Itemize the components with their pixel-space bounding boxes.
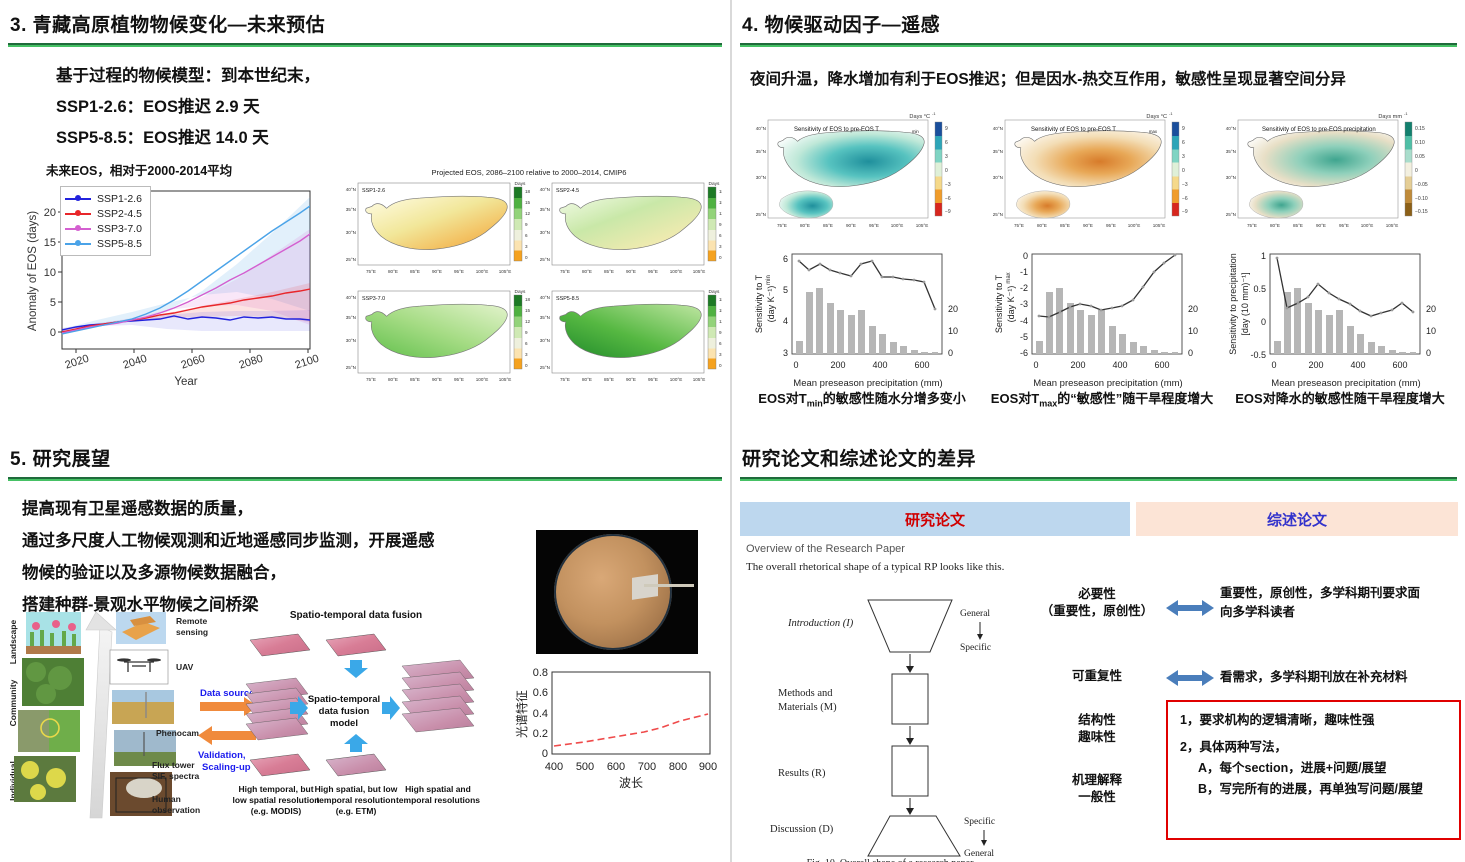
- spectra-ylabel: 光谱特征: [514, 690, 529, 738]
- svg-text:80°E: 80°E: [582, 269, 592, 274]
- svg-text:85°E: 85°E: [604, 377, 614, 382]
- svg-text:-1: -1: [1169, 111, 1173, 116]
- svg-text:Sensitivity to T: Sensitivity to T: [754, 274, 764, 333]
- s3-line-3: SSP5-8.5：EOS推迟 14.0 天: [56, 123, 730, 154]
- method-thumbnails: [110, 612, 176, 816]
- svg-text:0: 0: [1271, 360, 1276, 370]
- svg-text:30°N: 30°N: [1226, 175, 1236, 180]
- svg-text:40°N: 40°N: [540, 295, 550, 300]
- svg-text:6: 6: [719, 233, 722, 238]
- section-3-title: 3. 青藏高原植物物候变化—未来预估: [0, 0, 730, 41]
- svg-text:80°E: 80°E: [800, 223, 810, 228]
- doc-figcap: Fig. 10. Overall shape of a research pap…: [740, 858, 1040, 862]
- svg-text:2080: 2080: [238, 353, 265, 372]
- row2-right-text: 看需求，多学科期刊放在补充材料: [1220, 668, 1465, 687]
- svg-text:90°E: 90°E: [1316, 223, 1326, 228]
- svg-text:12: 12: [719, 319, 722, 324]
- svg-text:35°N: 35°N: [540, 315, 550, 320]
- fusion-captions: High temporal, butlow spatial resolution…: [233, 784, 481, 816]
- label-scaling-up: Scaling-up: [202, 762, 251, 773]
- svg-text:-5: -5: [1020, 332, 1028, 342]
- slide-root: 3. 青藏高原植物物候变化—未来预估 基于过程的物候模型：到本世纪末， SSP1…: [0, 0, 1465, 862]
- eos-x-ticks: 2020 2040 2060 2080 2100: [64, 353, 321, 372]
- svg-text:95°E: 95°E: [869, 223, 879, 228]
- box-line-1: 1，要求机构的逻辑清晰，趣味性强: [1180, 710, 1449, 731]
- svg-text:-1: -1: [932, 111, 936, 116]
- svg-text:95°E: 95°E: [454, 269, 464, 274]
- svg-text:Sensitivity of EOS to pre-EOS: Sensitivity of EOS to pre-EOS T: [794, 127, 879, 133]
- eos-xlabel: Year: [174, 376, 197, 388]
- svg-text:105°E: 105°E: [693, 377, 706, 382]
- svg-text:data fusion: data fusion: [319, 706, 370, 717]
- row3-left-label: 结构性趣味性: [1032, 712, 1162, 746]
- svg-text:6: 6: [525, 341, 528, 346]
- svg-text:18: 18: [719, 297, 722, 302]
- svg-text:400: 400: [872, 360, 887, 370]
- svg-text:25°N: 25°N: [993, 212, 1003, 217]
- eos-anomaly-chart-title: 未来EOS，相对于2000-2014平均: [22, 160, 332, 179]
- svg-text:75°E: 75°E: [366, 269, 376, 274]
- svg-text:85°E: 85°E: [823, 223, 833, 228]
- svg-text:High temporal, but: High temporal, but: [238, 784, 313, 794]
- svg-text:SSP3-7.0: SSP3-7.0: [362, 296, 385, 302]
- band-review-paper: 综述论文: [1136, 502, 1458, 536]
- svg-text:-0.5: -0.5: [1250, 350, 1266, 360]
- svg-text:0.6: 0.6: [533, 687, 548, 699]
- svg-text:35°N: 35°N: [1226, 149, 1236, 154]
- svg-text:0.8: 0.8: [533, 667, 548, 679]
- s3-line-2: SSP1-2.6：EOS推迟 2.9 天: [56, 92, 730, 123]
- spectra-xlabel: 波长: [619, 776, 643, 790]
- svg-text:25°N: 25°N: [540, 365, 550, 370]
- svg-text:3: 3: [1182, 154, 1185, 160]
- legend-item-ssp245: SSP2-4.5: [65, 206, 142, 221]
- svg-text:100°E: 100°E: [670, 269, 683, 274]
- svg-text:105°E: 105°E: [693, 269, 706, 274]
- eos-ylabel: Anomaly of EOS (days): [27, 211, 39, 331]
- fusion-model-label: Spatio-temporaldata fusionmodel: [308, 694, 380, 729]
- svg-text:95°E: 95°E: [1339, 223, 1349, 228]
- svg-text:75°E: 75°E: [777, 223, 787, 228]
- svg-text:10: 10: [1188, 326, 1198, 336]
- svg-text:UAV: UAV: [176, 662, 194, 672]
- svg-text:40°N: 40°N: [540, 187, 550, 192]
- svg-text:0: 0: [1023, 251, 1028, 261]
- svg-text:-3: -3: [1020, 299, 1028, 309]
- svg-text:3: 3: [525, 244, 528, 249]
- svg-text:0.05: 0.05: [1415, 154, 1425, 160]
- svg-text:800: 800: [669, 761, 687, 773]
- svg-text:35°N: 35°N: [993, 149, 1003, 154]
- svg-text:12: 12: [525, 319, 531, 324]
- svg-text:10: 10: [1426, 326, 1436, 336]
- svg-text:6: 6: [783, 254, 788, 264]
- svg-text:−9: −9: [1182, 209, 1188, 215]
- svg-text:low spatial resolution: low spatial resolution: [233, 795, 320, 805]
- map-sensitivity-tmin: Days °C -1 Sensitivity of EOS to pre-EOS…: [756, 111, 951, 228]
- svg-text:Days °C: Days °C: [1146, 114, 1167, 120]
- svg-text:sensing: sensing: [176, 627, 208, 637]
- svg-text:90°E: 90°E: [432, 377, 442, 382]
- box-line-4: B，写完所有的进展，再单独写问题/展望: [1180, 779, 1449, 800]
- svg-text:10: 10: [44, 267, 56, 279]
- svg-text:Specific: Specific: [964, 816, 995, 827]
- svg-text:Sensitivity to precipitation: Sensitivity to precipitation: [1228, 253, 1238, 355]
- fusion-title: Spatio-temporal data fusion: [290, 610, 422, 621]
- svg-text:Days mm: Days mm: [1378, 114, 1402, 120]
- row2-left-label: 可重复性: [1032, 668, 1162, 685]
- svg-text:25°N: 25°N: [346, 365, 356, 370]
- svg-text:Results (R): Results (R): [778, 768, 826, 779]
- svg-text:15: 15: [525, 200, 531, 205]
- svg-text:2040: 2040: [122, 353, 149, 372]
- svg-text:200: 200: [1308, 360, 1323, 370]
- section-6-panel: 研究论文和综述论文的差异 研究论文 综述论文 Overview of the R…: [732, 434, 1465, 862]
- section-3-panel: 3. 青藏高原植物物候变化—未来预估 基于过程的物候模型：到本世纪末， SSP1…: [0, 0, 730, 432]
- svg-text:85°E: 85°E: [1060, 223, 1070, 228]
- svg-text:30°N: 30°N: [756, 175, 766, 180]
- section-4-rule: [740, 43, 1457, 47]
- eos-y-ticks: 0 5 10 15 20: [44, 207, 56, 339]
- svg-text:0: 0: [793, 360, 798, 370]
- svg-text:Sensitivity of EOS to pre-EOS: Sensitivity of EOS to pre-EOS precipitat…: [1262, 127, 1376, 133]
- svg-text:700: 700: [638, 761, 656, 773]
- svg-text:0.10: 0.10: [1415, 140, 1425, 146]
- fusion-diagram: Spatio-temporal data fusion: [233, 610, 481, 816]
- projected-eos-maps: Projected EOS, 2086–2100 relative to 200…: [336, 168, 722, 396]
- svg-text:12: 12: [525, 211, 531, 216]
- svg-text:40°N: 40°N: [346, 295, 356, 300]
- svg-text:95°E: 95°E: [648, 377, 658, 382]
- svg-text:90°E: 90°E: [626, 377, 636, 382]
- sensitivity-maps: Days °C -1 Sensitivity of EOS to pre-EOS…: [742, 108, 1457, 246]
- svg-text:75°E: 75°E: [1014, 223, 1024, 228]
- node-introduction: Introduction (I): [787, 618, 854, 629]
- svg-text:Sensitivity to T: Sensitivity to T: [994, 274, 1004, 333]
- svg-text:Days: Days: [515, 181, 527, 187]
- section-5-panel: 5. 研究展望 提高现有卫星遥感数据的质量， 通过多尺度人工物候观测和近地遥感同…: [0, 434, 730, 862]
- section-5-title: 5. 研究展望: [0, 434, 730, 475]
- svg-text:3: 3: [783, 348, 788, 358]
- svg-text:max: max: [1006, 272, 1012, 283]
- svg-text:-4: -4: [1020, 316, 1028, 326]
- svg-text:SSP5-8.5: SSP5-8.5: [556, 296, 579, 302]
- svg-text:20: 20: [1188, 304, 1198, 314]
- svg-text:9: 9: [719, 330, 722, 335]
- svg-text:0: 0: [1426, 348, 1431, 358]
- svg-text:95°E: 95°E: [1106, 223, 1116, 228]
- svg-text:85°E: 85°E: [410, 377, 420, 382]
- row1-right-text: 重要性，原创性，多学科期刊要求面向多学科读者: [1220, 584, 1465, 622]
- svg-text:85°E: 85°E: [1293, 223, 1303, 228]
- svg-text:90°E: 90°E: [846, 223, 856, 228]
- svg-text:0: 0: [1261, 317, 1266, 327]
- doc-sub: The overall rhetorical shape of a typica…: [746, 561, 1005, 573]
- svg-text:90°E: 90°E: [1083, 223, 1093, 228]
- svg-text:−9: −9: [945, 209, 951, 215]
- svg-text:0: 0: [1033, 360, 1038, 370]
- svg-text:Flux tower: Flux tower: [152, 760, 195, 770]
- svg-text:0: 0: [525, 255, 528, 260]
- map-cell-ssp370: SSP3-7.0 40°N35°N 30°N25°N 75°E80°E 85°E…: [346, 289, 531, 382]
- svg-text:General: General: [960, 609, 990, 619]
- legend-item-ssp370: SSP3-7.0: [65, 221, 142, 236]
- legend-item-ssp126: SSP1-2.6: [65, 191, 142, 206]
- legend-item-ssp585: SSP5-8.5: [65, 236, 142, 251]
- svg-text:-6: -6: [1020, 348, 1028, 358]
- svg-text:9: 9: [945, 126, 948, 132]
- svg-text:500: 500: [576, 761, 594, 773]
- section-4-headline: 夜间升温，降水增加有利于EOS推迟；但是因水-热交互作用，敏感性呈现显著空间分异: [732, 47, 1465, 89]
- section-4-panel: 4. 物候驱动因子—遥感 夜间升温，降水增加有利于EOS推迟；但是因水-热交互作…: [732, 0, 1465, 432]
- section-5-rule: [8, 477, 722, 481]
- section-6-title: 研究论文和综述论文的差异: [732, 434, 1465, 475]
- svg-text:High spatial and: High spatial and: [405, 784, 471, 794]
- projected-eos-map-grid: SSP1-2.6 40°N35°N 30°N25°N 75°E80°E 85°E…: [336, 179, 722, 393]
- svg-text:0.5: 0.5: [1253, 284, 1266, 294]
- section-4-title: 4. 物候驱动因子—遥感: [732, 0, 1465, 41]
- svg-text:9: 9: [719, 222, 722, 227]
- label-data-source: Data source: [200, 688, 254, 699]
- svg-text:Remote: Remote: [176, 616, 207, 626]
- svg-text:min: min: [912, 129, 919, 134]
- svg-text:2020: 2020: [64, 353, 91, 372]
- svg-text:2100: 2100: [294, 353, 321, 372]
- sensitivity-charts: 65 43 0200 400600 01020 Mean preseason p…: [742, 246, 1457, 396]
- svg-text:9: 9: [525, 330, 528, 335]
- svg-text:Phenocam: Phenocam: [156, 728, 199, 738]
- svg-text:100°E: 100°E: [476, 377, 489, 382]
- svg-text:18: 18: [525, 297, 531, 302]
- highlight-box: 1，要求机构的逻辑清晰，趣味性强 2，具体两种写法， A，每个section，进…: [1166, 700, 1461, 840]
- svg-text:90°E: 90°E: [432, 269, 442, 274]
- svg-text:Materials (M): Materials (M): [778, 702, 837, 713]
- svg-text:observation: observation: [152, 805, 200, 815]
- section-3-body: 基于过程的物候模型：到本世纪末， SSP1-2.6：EOS推迟 2.9 天 SS…: [0, 47, 730, 154]
- svg-text:(day K⁻¹): (day K⁻¹): [766, 286, 776, 323]
- svg-text:100°E: 100°E: [1361, 223, 1374, 228]
- svg-text:80°E: 80°E: [388, 269, 398, 274]
- svg-text:0: 0: [1188, 348, 1193, 358]
- svg-text:15: 15: [719, 200, 722, 205]
- svg-text:Community: Community: [8, 679, 18, 726]
- svg-text:40°N: 40°N: [346, 187, 356, 192]
- svg-text:35°N: 35°N: [346, 315, 356, 320]
- svg-text:0.15: 0.15: [1415, 126, 1425, 132]
- svg-text:30°N: 30°N: [540, 338, 550, 343]
- eos-anomaly-chart: 未来EOS，相对于2000-2014平均: [22, 160, 332, 400]
- caption-precip: EOS对降水的敏感性随干旱程度增大: [1222, 388, 1458, 407]
- section-3-rule: [8, 43, 722, 47]
- petri-dish-photo: [536, 530, 698, 654]
- svg-text:0: 0: [542, 748, 548, 760]
- chart-sensitivity-tmax: 0-1 -2-3 -4-5 -6 0200 400600 01020 Mean …: [994, 251, 1198, 389]
- svg-text:3: 3: [719, 352, 722, 357]
- svg-text:5: 5: [783, 285, 788, 295]
- svg-text:18: 18: [719, 189, 722, 194]
- svg-text:25°N: 25°N: [756, 212, 766, 217]
- svg-text:3: 3: [719, 244, 722, 249]
- map-cell-ssp245: SSP2-4.5 40°N35°N 30°N25°N 75°E80°E 85°E…: [540, 181, 722, 274]
- svg-text:25°N: 25°N: [540, 257, 550, 262]
- svg-text:20: 20: [1426, 304, 1436, 314]
- svg-text:Discussion (D): Discussion (D): [770, 824, 834, 835]
- svg-text:15: 15: [719, 308, 722, 313]
- svg-text:0.4: 0.4: [533, 708, 548, 720]
- svg-text:−3: −3: [1182, 182, 1188, 188]
- svg-text:40°N: 40°N: [993, 126, 1003, 131]
- svg-text:85°E: 85°E: [410, 269, 420, 274]
- svg-text:max: max: [1149, 129, 1158, 134]
- svg-text:−3: −3: [945, 182, 951, 188]
- svg-text:15: 15: [525, 308, 531, 313]
- svg-text:1: 1: [1261, 251, 1266, 261]
- svg-text:90°E: 90°E: [626, 269, 636, 274]
- svg-text:6: 6: [1182, 140, 1185, 146]
- eos-legend: SSP1-2.6 SSP2-4.5 SSP3-7.0 SSP5-8.5: [60, 186, 151, 256]
- svg-text:12: 12: [719, 211, 722, 216]
- svg-text:6: 6: [945, 140, 948, 146]
- svg-text:Human: Human: [152, 794, 181, 804]
- svg-text:600: 600: [914, 360, 929, 370]
- projected-eos-maps-title: Projected EOS, 2086–2100 relative to 200…: [336, 168, 722, 177]
- svg-text:30°N: 30°N: [993, 175, 1003, 180]
- svg-text:35°N: 35°N: [540, 207, 550, 212]
- svg-text:−6: −6: [1182, 196, 1188, 202]
- svg-text:105°E: 105°E: [1386, 223, 1399, 228]
- map-sensitivity-precipitation: Days mm -1 Sensitivity of EOS to pre-EOS…: [1226, 111, 1428, 228]
- svg-text:−6: −6: [945, 196, 951, 202]
- svg-text:Landscape: Landscape: [8, 620, 18, 665]
- svg-text:SIF, spectra: SIF, spectra: [152, 771, 200, 781]
- svg-text:Specific: Specific: [960, 642, 991, 653]
- svg-text:40°N: 40°N: [756, 126, 766, 131]
- svg-text:80°E: 80°E: [388, 377, 398, 382]
- box-line-3: A，每个section，进展+问题/展望: [1180, 758, 1449, 779]
- svg-text:400: 400: [545, 761, 563, 773]
- svg-text:−0.15: −0.15: [1415, 209, 1428, 215]
- svg-text:temporal resolution: temporal resolution: [316, 795, 395, 805]
- svg-text:Days °C: Days °C: [909, 114, 930, 120]
- svg-text:-2: -2: [1020, 283, 1028, 293]
- svg-text:95°E: 95°E: [454, 377, 464, 382]
- svg-text:100°E: 100°E: [891, 223, 904, 228]
- svg-text:900: 900: [699, 761, 717, 773]
- svg-text:3: 3: [945, 154, 948, 160]
- svg-text:80°E: 80°E: [582, 377, 592, 382]
- svg-text:35°N: 35°N: [756, 149, 766, 154]
- svg-text:95°E: 95°E: [648, 269, 658, 274]
- svg-text:model: model: [330, 718, 358, 729]
- svg-text:200: 200: [1070, 360, 1085, 370]
- svg-text:200: 200: [830, 360, 845, 370]
- svg-text:High spatial, but low: High spatial, but low: [315, 784, 398, 794]
- caption-tmin: EOS对Tmin的敏感性随水分增多变小: [744, 388, 980, 409]
- svg-text:Days: Days: [709, 289, 721, 295]
- svg-text:0: 0: [719, 363, 722, 368]
- svg-text:temporal resolutions: temporal resolutions: [396, 795, 480, 805]
- svg-text:9: 9: [525, 222, 528, 227]
- svg-text:85°E: 85°E: [604, 269, 614, 274]
- svg-text:-1: -1: [1020, 267, 1028, 277]
- svg-text:Spatio-temporal: Spatio-temporal: [308, 694, 380, 705]
- svg-text:0: 0: [945, 168, 948, 174]
- svg-text:15: 15: [44, 237, 56, 249]
- svg-text:−0.05: −0.05: [1415, 182, 1428, 188]
- s5-line-1: 提高现有卫星遥感数据的质量，: [22, 493, 730, 525]
- svg-text:-1: -1: [1404, 111, 1408, 116]
- row4-left-label: 机理解释一般性: [1032, 772, 1162, 806]
- band-research-paper: 研究论文: [740, 502, 1130, 536]
- svg-text:10: 10: [948, 326, 958, 336]
- svg-text:18: 18: [525, 189, 531, 194]
- svg-text:Days: Days: [515, 289, 527, 295]
- svg-text:400: 400: [1350, 360, 1365, 370]
- multiscale-observation-graphic: Landscape Community Individual: [4, 606, 504, 860]
- svg-text:4: 4: [783, 316, 788, 326]
- validation-arrow: [198, 726, 256, 745]
- row1-arrow-icon: [1166, 598, 1214, 618]
- svg-text:0: 0: [50, 327, 56, 339]
- svg-text:Sensitivity of EOS to pre-EOS: Sensitivity of EOS to pre-EOS T: [1031, 127, 1116, 133]
- svg-text:30°N: 30°N: [346, 230, 356, 235]
- svg-text:min: min: [766, 275, 772, 285]
- spectra-chart: 0.80.6 0.40.2 0 400500 600700 800900 波长 …: [508, 666, 722, 806]
- svg-text:[day (10 mm)⁻¹]: [day (10 mm)⁻¹]: [1240, 272, 1250, 335]
- section-6-rule: [740, 477, 1457, 481]
- svg-text:105°E: 105°E: [1153, 223, 1166, 228]
- svg-text:100°E: 100°E: [476, 269, 489, 274]
- s3-line-1: 基于过程的物候模型：到本世纪末，: [56, 61, 730, 92]
- svg-text:30°N: 30°N: [540, 230, 550, 235]
- svg-text:0: 0: [1182, 168, 1185, 174]
- box-line-2: 2，具体两种写法，: [1180, 737, 1449, 758]
- svg-text:100°E: 100°E: [1128, 223, 1141, 228]
- svg-text:20: 20: [44, 207, 56, 219]
- map-cell-ssp585: SSP5-8.5 40°N35°N 30°N25°N 75°E80°E 85°E…: [540, 289, 722, 382]
- svg-text:0.2: 0.2: [533, 728, 548, 740]
- research-paper-shape-figure: Overview of the Research Paper The overa…: [740, 538, 1040, 860]
- scale-photos: [14, 612, 84, 802]
- svg-text:75°E: 75°E: [366, 377, 376, 382]
- svg-text:75°E: 75°E: [1247, 223, 1257, 228]
- caption-tmax: EOS对Tmax的“敏感性”随干旱程度增大: [984, 388, 1220, 409]
- svg-text:0: 0: [719, 255, 722, 260]
- svg-text:100°E: 100°E: [670, 377, 683, 382]
- svg-text:80°E: 80°E: [1270, 223, 1280, 228]
- svg-text:105°E: 105°E: [499, 377, 512, 382]
- svg-text:40°N: 40°N: [1226, 126, 1236, 131]
- svg-text:(e.g. ETM): (e.g. ETM): [336, 806, 377, 816]
- svg-text:105°E: 105°E: [499, 269, 512, 274]
- svg-text:75°E: 75°E: [560, 269, 570, 274]
- svg-text:6: 6: [719, 341, 722, 346]
- svg-text:2060: 2060: [180, 353, 207, 372]
- svg-text:600: 600: [607, 761, 625, 773]
- svg-text:25°N: 25°N: [1226, 212, 1236, 217]
- svg-text:105°E: 105°E: [916, 223, 929, 228]
- label-validation: Validation,: [198, 750, 246, 761]
- map-cell-ssp126: SSP1-2.6 40°N35°N 30°N25°N 75°E80°E 85°E…: [346, 181, 531, 274]
- svg-text:600: 600: [1392, 360, 1407, 370]
- row1-left-label: 必要性（重要性，原创性）: [1032, 586, 1162, 620]
- svg-text:9: 9: [1182, 126, 1185, 132]
- svg-text:SSP1-2.6: SSP1-2.6: [362, 188, 385, 194]
- svg-text:600: 600: [1154, 360, 1169, 370]
- svg-text:20: 20: [948, 304, 958, 314]
- chart-sensitivity-tmin: 65 43 0200 400600 01020 Mean preseason p…: [754, 254, 958, 389]
- svg-text:75°E: 75°E: [560, 377, 570, 382]
